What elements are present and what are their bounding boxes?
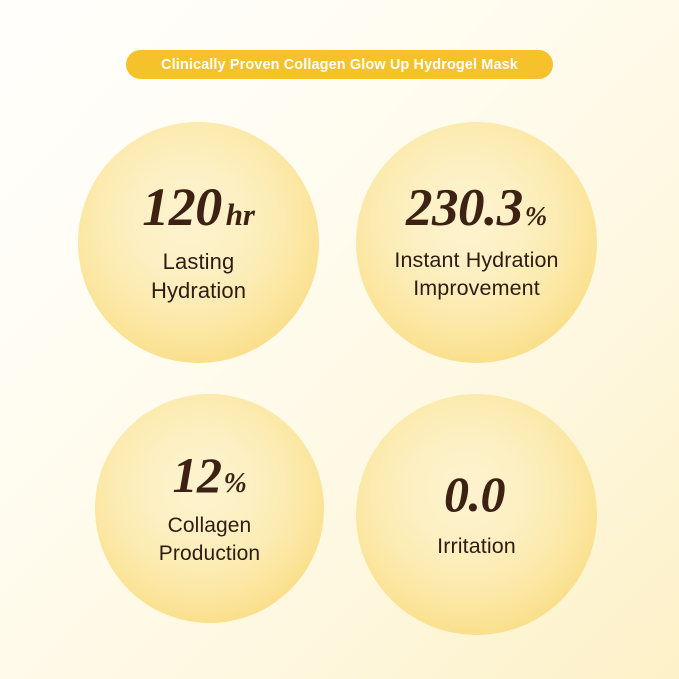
stat-value: 230.3 % — [406, 182, 547, 235]
stat-circle-irritation: 0.0 Irritation — [356, 394, 597, 635]
stat-value: 0.0 — [444, 469, 509, 519]
stat-label: Irritation — [437, 533, 516, 561]
product-claims-infographic: Clinically Proven Collagen Glow Up Hydro… — [0, 0, 679, 679]
stat-unit: % — [223, 470, 246, 498]
stat-value: 120 hr — [142, 180, 254, 234]
headline-badge-label: Clinically Proven Collagen Glow Up Hydro… — [161, 57, 518, 73]
stat-label: Collagen Production — [159, 512, 260, 567]
stat-unit: % — [525, 203, 547, 230]
stat-label: Lasting Hydration — [151, 248, 246, 305]
stat-circle-instant-hydration-improvement: 230.3 % Instant Hydration Improvement — [356, 122, 597, 363]
stat-value: 12 % — [172, 450, 246, 500]
stat-number: 0.0 — [444, 469, 505, 519]
stat-number: 120 — [142, 180, 222, 234]
stat-circle-collagen-production: 12 % Collagen Production — [95, 394, 324, 623]
stat-number: 230.3 — [406, 182, 523, 235]
stat-circle-lasting-hydration: 120 hr Lasting Hydration — [78, 122, 319, 363]
stat-unit: hr — [226, 199, 255, 230]
stat-label: Instant Hydration Improvement — [394, 247, 558, 303]
headline-badge: Clinically Proven Collagen Glow Up Hydro… — [126, 50, 553, 79]
stat-number: 12 — [172, 450, 221, 500]
